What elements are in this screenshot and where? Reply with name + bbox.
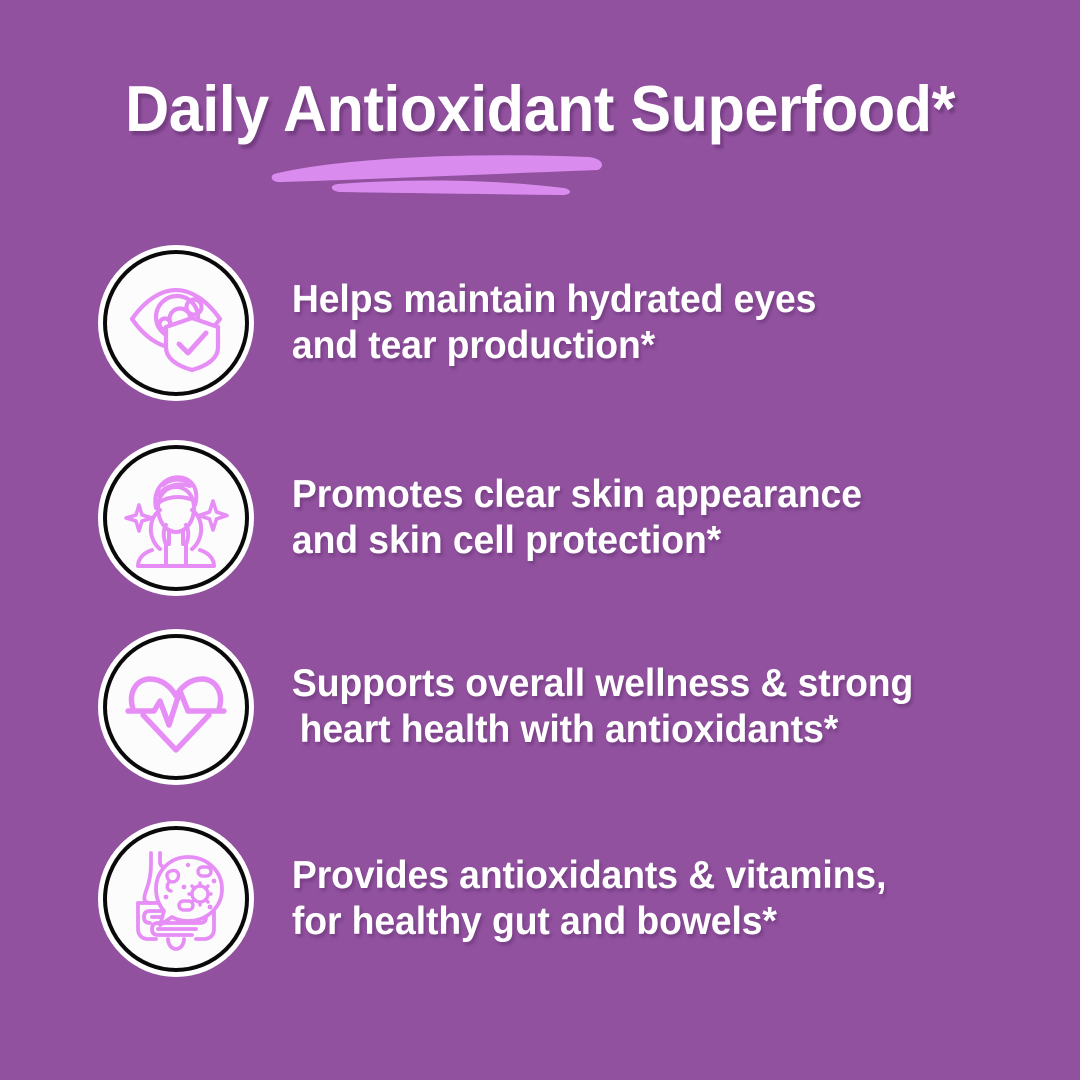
- benefit-text: Supports overall wellness & strong heart…: [256, 661, 1003, 753]
- heart-pulse-icon: [103, 634, 249, 780]
- list-item: Supports overall wellness & strong heart…: [96, 627, 1026, 787]
- benefit-icon-badge: [96, 243, 256, 403]
- benefit-text: Promotes clear skin appearance and skin …: [256, 472, 1003, 564]
- list-item: Helps maintain hydrated eyes and tear pr…: [96, 243, 1026, 403]
- gut-microbiome-icon: [103, 826, 249, 972]
- list-item: Provides antioxidants & vitamins, for he…: [96, 819, 1026, 979]
- infographic-canvas: Daily Antioxidant Superfood*: [0, 0, 1080, 1080]
- benefit-line-1: Helps maintain hydrated eyes: [292, 277, 1003, 323]
- eye-shield-check-icon: [103, 250, 249, 396]
- benefit-icon-badge: [96, 627, 256, 787]
- benefit-list: Helps maintain hydrated eyes and tear pr…: [0, 0, 1080, 1080]
- benefit-line-2: heart health with antioxidants*: [292, 707, 1003, 753]
- benefit-text: Provides antioxidants & vitamins, for he…: [256, 853, 1003, 945]
- benefit-text: Helps maintain hydrated eyes and tear pr…: [256, 277, 1003, 369]
- benefit-line-2: and tear production*: [292, 323, 1003, 369]
- list-item: Promotes clear skin appearance and skin …: [96, 438, 1026, 598]
- benefit-icon-badge: [96, 819, 256, 979]
- benefit-line-2: and skin cell protection*: [292, 518, 1003, 564]
- benefit-line-1: Promotes clear skin appearance: [292, 472, 1003, 518]
- benefit-line-1: Supports overall wellness & strong: [292, 661, 1003, 707]
- benefit-icon-badge: [96, 438, 256, 598]
- benefit-line-2: for healthy gut and bowels*: [292, 899, 1003, 945]
- skincare-face-sparkle-icon: [103, 445, 249, 591]
- benefit-line-1: Provides antioxidants & vitamins,: [292, 853, 1003, 899]
